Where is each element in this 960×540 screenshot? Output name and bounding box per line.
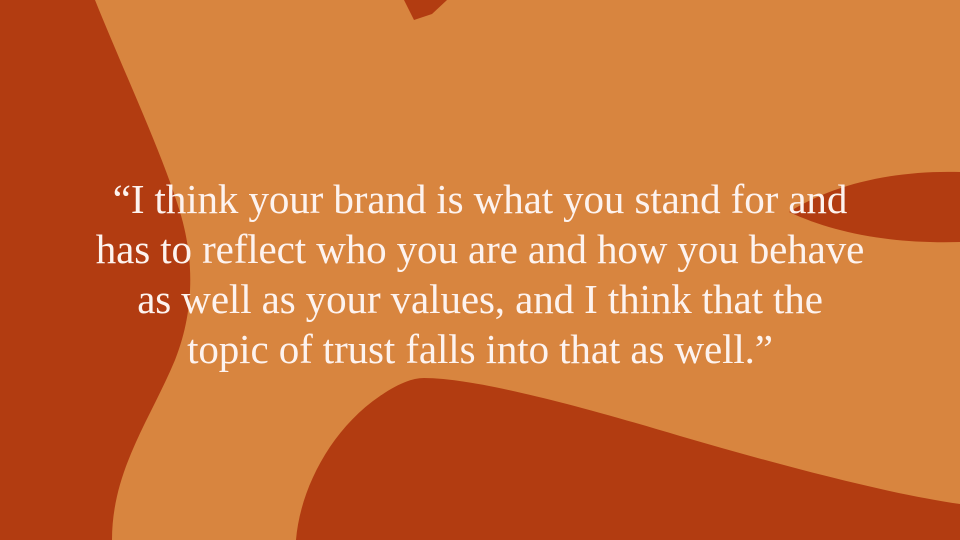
- quote-line-3: as well as your values, and I think that…: [137, 274, 823, 324]
- quote-line-1: “I think your brand is what you stand fo…: [113, 174, 847, 224]
- quote-slide: “I think your brand is what you stand fo…: [0, 0, 960, 540]
- quote-line-2: has to reflect who you are and how you b…: [96, 224, 865, 274]
- quote-line-4: topic of trust falls into that as well.”: [187, 324, 773, 374]
- quote-text-block: “I think your brand is what you stand fo…: [0, 0, 960, 540]
